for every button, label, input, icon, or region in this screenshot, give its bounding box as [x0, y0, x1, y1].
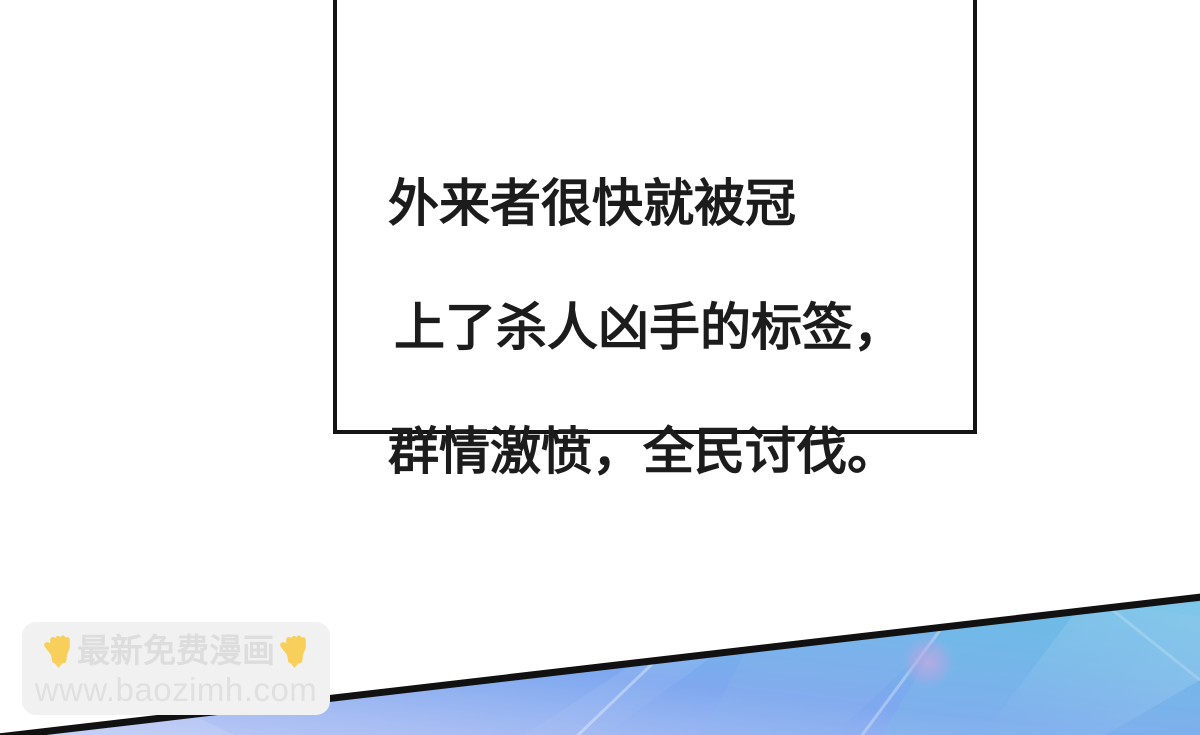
watermark-title-row: 最新免费漫画 [41, 629, 311, 673]
page-root: 外来者很快就被冠 上了杀人凶手的标签， 群情激愤，全民讨伐。 [0, 0, 1200, 735]
comic-dialogue-panel: 外来者很快就被冠 上了杀人凶手的标签， 群情激愤，全民讨伐。 [333, 0, 977, 434]
watermark-url[interactable]: www.baozimh.com [35, 672, 318, 708]
backhand-index-pointing-down-icon [277, 632, 311, 670]
panel-dialogue-line-3: 群情激愤，全民讨伐。 [388, 422, 948, 484]
watermark-title: 最新免费漫画 [77, 633, 275, 669]
panel-dialogue-text: 外来者很快就被冠 上了杀人凶手的标签， 群情激愤，全民讨伐。 [388, 112, 948, 546]
panel-dialogue-line-1: 外来者很快就被冠 [388, 174, 948, 236]
watermark-badge[interactable]: 最新免费漫画 www.baozimh.com [22, 622, 330, 715]
panel-dialogue-line-2: 上了杀人凶手的标签， [394, 298, 948, 360]
backhand-index-pointing-down-icon [41, 632, 75, 670]
